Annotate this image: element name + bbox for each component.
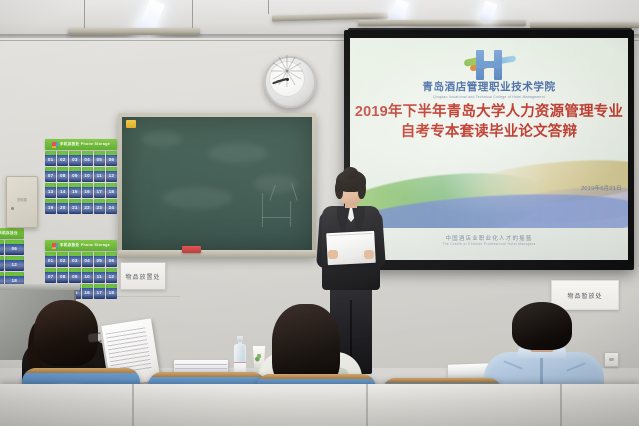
phone-pocket[interactable]: 10 [82, 268, 93, 283]
phone-pocket-number: 15 [72, 189, 78, 194]
phone-pocket-number: 18 [109, 189, 115, 194]
phone-pocket[interactable]: 12 [106, 167, 117, 182]
classroom-photo-scene: 青岛酒店管理职业技术学院 Qingdao Vocational and Tech… [0, 0, 639, 426]
light-wire [84, 0, 85, 30]
phone-pocket[interactable]: 03 [69, 252, 80, 267]
phone-pocket[interactable]: 22 [82, 199, 93, 214]
phone-pocket[interactable]: 07 [45, 167, 56, 182]
phone-pocket-number: 03 [72, 258, 78, 263]
phone-pocket[interactable]: 12 [106, 268, 117, 283]
pocket-board-header-text: 手机存放处 Phone Storage [60, 142, 110, 147]
light-fixture-rail [358, 20, 526, 26]
pocket-board-header: 手机存放处 Phone Storage [45, 240, 117, 251]
phone-pocket[interactable]: 09 [69, 167, 80, 182]
presenter-left-hand [328, 250, 338, 259]
phone-pocket[interactable]: 19 [45, 199, 56, 214]
phone-pocket-number: 17 [96, 189, 102, 194]
clock-center-pin [286, 78, 289, 81]
phone-pocket-number: 07 [48, 274, 54, 279]
phone-pocket[interactable]: 24 [106, 199, 117, 214]
analog-wall-clock [264, 56, 312, 104]
control-box-indicator-icon [11, 207, 14, 210]
phone-pocket[interactable]: 11 [94, 167, 105, 182]
phone-pocket[interactable]: 08 [57, 167, 68, 182]
wall-power-socket[interactable] [604, 352, 619, 367]
phone-pocket[interactable]: 17 [94, 183, 105, 198]
phone-pocket-number: 02 [60, 157, 66, 162]
light-wire [192, 0, 193, 30]
pocket-board-header: 手机存放处 Phone Storage [45, 139, 117, 150]
phone-pocket[interactable]: 21 [69, 199, 80, 214]
phone-pocket[interactable]: 04 [82, 252, 93, 267]
phone-pocket-number: 07 [48, 173, 54, 178]
phone-pocket[interactable]: 12 [5, 256, 25, 271]
phone-pocket-number: 08 [60, 173, 66, 178]
presenter-right-hand [364, 250, 374, 259]
screen-sheen [350, 38, 628, 260]
phone-pocket[interactable]: 23 [94, 199, 105, 214]
presenter-held-papers [326, 231, 376, 265]
phone-pocket-number: 24 [109, 205, 115, 210]
phone-pocket-number: 02 [60, 258, 66, 263]
chalkboard-ledge [118, 250, 316, 258]
attendee-right-hair [512, 302, 572, 350]
phone-pocket[interactable]: 05 [0, 240, 4, 255]
wall-cabinet-top [0, 284, 80, 290]
phone-pocket-number: 18 [11, 278, 17, 283]
phone-pocket-number: 04 [84, 157, 90, 162]
phone-pocket[interactable]: 06 [106, 252, 117, 267]
phone-pocket[interactable]: 07 [45, 268, 56, 283]
phone-pocket[interactable]: 01 [45, 151, 56, 166]
projector-screen-surface: 青岛酒店管理职业技术学院 Qingdao Vocational and Tech… [350, 38, 628, 260]
phone-pocket[interactable]: 02 [57, 252, 68, 267]
front-desk-seam [560, 384, 562, 426]
phone-pocket[interactable]: 18 [106, 183, 117, 198]
phone-pocket-number: 09 [72, 274, 78, 279]
phone-pocket-number: 13 [48, 189, 54, 194]
phone-pocket-number: 21 [72, 205, 78, 210]
presenter-hair-left [335, 180, 343, 199]
phone-pocket-number: 23 [96, 205, 102, 210]
phone-pocket[interactable]: 05 [94, 252, 105, 267]
chalkboard-eraser [182, 246, 201, 253]
sign-item-placement-left: 物品放置处 [120, 262, 166, 290]
phone-pocket[interactable]: 02 [57, 151, 68, 166]
sign-text: 物品放置处 [125, 272, 160, 281]
pocket-grid: 0102030405060708091011121314151617181920… [45, 151, 117, 214]
phone-pocket[interactable]: 10 [82, 167, 93, 182]
bottle-cap [237, 336, 243, 342]
phone-pocket-number: 06 [109, 157, 115, 162]
phone-pocket-number: 05 [96, 258, 102, 263]
phone-pocket-number: 18 [109, 290, 115, 295]
phone-pocket-number: 04 [84, 258, 90, 263]
phone-pocket[interactable]: 16 [82, 284, 93, 299]
phone-pocket-number: 03 [72, 157, 78, 162]
phone-pocket[interactable]: 04 [82, 151, 93, 166]
light-wire [268, 0, 269, 14]
phone-pocket[interactable]: 16 [82, 183, 93, 198]
phone-pocket-number: 11 [97, 173, 102, 178]
phone-pocket[interactable]: 09 [69, 268, 80, 283]
phone-pocket-number: 17 [96, 290, 102, 295]
phone-pocket-board-upper-right: 手机存放处 Phone Storage 01020304050607080910… [45, 139, 117, 214]
pocket-board-header-text: 手机存放处 Phone Storage [60, 243, 110, 248]
phone-pocket-number: 01 [48, 258, 54, 263]
phone-pocket-number: 08 [60, 274, 66, 279]
wall-control-box[interactable]: 配电箱 [6, 176, 38, 228]
chalkboard-sticker [126, 120, 136, 128]
front-desk-seam [366, 384, 368, 426]
clock-face [269, 61, 305, 97]
front-desk-seam [132, 384, 134, 426]
phone-pocket-number: 22 [84, 205, 90, 210]
phone-pocket-number: 12 [11, 262, 17, 267]
phone-pocket-number: 12 [109, 173, 115, 178]
pocket-board-logo-icon [52, 243, 58, 249]
pocket-board-header: 手机存放处 [0, 228, 24, 239]
phone-pocket[interactable]: 15 [69, 183, 80, 198]
phone-pocket-number: 14 [60, 189, 66, 194]
phone-pocket-number: 16 [84, 290, 90, 295]
phone-pocket[interactable]: 17 [94, 284, 105, 299]
phone-pocket[interactable]: 08 [57, 268, 68, 283]
light-fixture-rail [68, 28, 200, 35]
phone-pocket-number: 09 [72, 173, 78, 178]
phone-pocket-number: 05 [96, 157, 102, 162]
phone-pocket-number: 06 [109, 258, 115, 263]
phone-pocket-number: 20 [60, 205, 66, 210]
phone-pocket[interactable]: 20 [57, 199, 68, 214]
phone-pocket-number: 16 [84, 189, 90, 194]
control-box-label: 配电箱 [7, 197, 37, 202]
phone-pocket[interactable]: 18 [106, 284, 117, 299]
phone-pocket[interactable]: 14 [57, 183, 68, 198]
phone-pocket-number: 10 [84, 173, 90, 178]
pocket-board-header-text: 手机存放处 [0, 231, 18, 236]
sign-text: 物品暂放处 [567, 291, 602, 300]
phone-pocket-number: 12 [109, 274, 115, 279]
phone-pocket[interactable]: 13 [45, 183, 56, 198]
phone-pocket-number: 11 [97, 274, 102, 279]
phone-pocket-number: 10 [84, 274, 90, 279]
pocket-board-logo-icon [52, 142, 58, 148]
phone-pocket[interactable]: 03 [69, 151, 80, 166]
phone-pocket[interactable]: 11 [0, 256, 4, 271]
phone-pocket[interactable]: 05 [94, 151, 105, 166]
phone-pocket[interactable]: 11 [94, 268, 105, 283]
phone-pocket[interactable]: 01 [45, 252, 56, 267]
phone-pocket-number: 19 [48, 205, 54, 210]
sign-item-storage-right: 物品暂放处 [551, 280, 619, 310]
phone-pocket[interactable]: 06 [106, 151, 117, 166]
phone-pocket-number: 01 [48, 157, 54, 162]
green-chalkboard [122, 117, 312, 250]
phone-pocket[interactable]: 06 [5, 240, 25, 255]
paper-cup-graphic [255, 352, 263, 362]
phone-pocket-number: 06 [11, 246, 17, 251]
front-desk-row [0, 384, 639, 426]
presenter-hair-bun [343, 167, 358, 179]
